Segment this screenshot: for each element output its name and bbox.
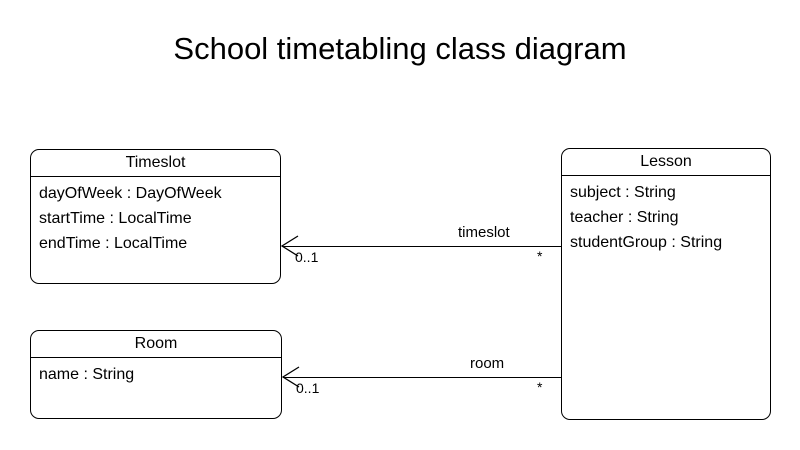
uml-attributes-room: name : String [31, 358, 281, 391]
uml-class-room[interactable]: Room name : String [30, 330, 282, 419]
association-label-room: room [470, 355, 504, 373]
association-multiplicity-source-timeslot: * [537, 248, 542, 265]
uml-attribute: dayOfWeek : DayOfWeek [39, 181, 280, 206]
uml-class-lesson[interactable]: Lesson subject : String teacher : String… [561, 148, 771, 420]
diagram-canvas: School timetabling class diagram Timeslo… [0, 0, 800, 450]
uml-attribute: startTime : LocalTime [39, 206, 280, 231]
association-line-room [283, 377, 561, 378]
uml-class-name-lesson: Lesson [562, 149, 770, 176]
association-line-timeslot [282, 246, 561, 247]
association-multiplicity-target-room: 0..1 [296, 380, 319, 397]
uml-attribute: endTime : LocalTime [39, 231, 280, 256]
uml-class-timeslot[interactable]: Timeslot dayOfWeek : DayOfWeek startTime… [30, 149, 281, 284]
uml-class-name-room: Room [31, 331, 281, 358]
uml-attribute: name : String [39, 362, 281, 387]
association-multiplicity-source-room: * [537, 379, 542, 396]
uml-attribute: teacher : String [570, 205, 770, 230]
uml-class-name-timeslot: Timeslot [31, 150, 280, 177]
uml-attribute: subject : String [570, 180, 770, 205]
page-title: School timetabling class diagram [0, 30, 800, 68]
association-label-timeslot: timeslot [458, 224, 510, 242]
uml-attribute: studentGroup : String [570, 230, 770, 255]
uml-attributes-lesson: subject : String teacher : String studen… [562, 176, 770, 259]
association-multiplicity-target-timeslot: 0..1 [295, 249, 318, 266]
uml-attributes-timeslot: dayOfWeek : DayOfWeek startTime : LocalT… [31, 177, 280, 260]
